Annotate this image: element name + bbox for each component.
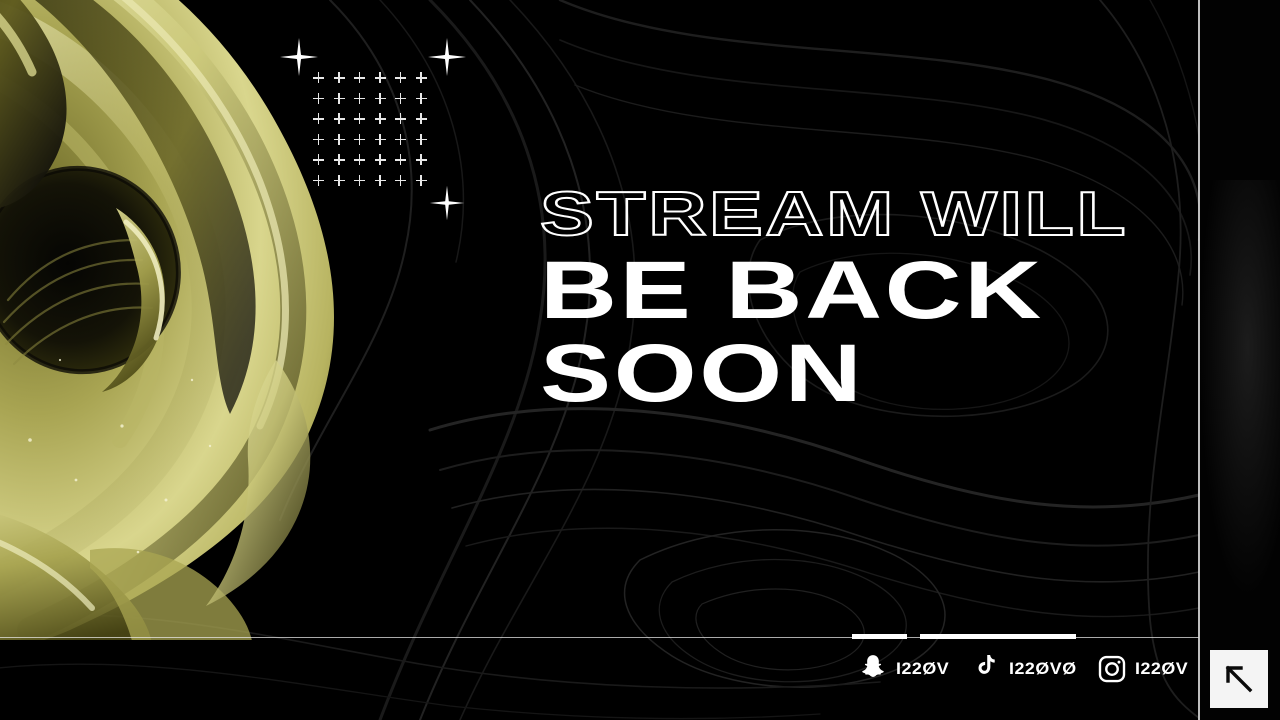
social-link-instagram[interactable]: I22ØV (1095, 652, 1186, 686)
plus-mark-icon (374, 154, 395, 175)
plus-mark-icon (353, 93, 374, 114)
plus-mark-icon (374, 175, 395, 196)
plus-mark-icon (333, 154, 354, 175)
social-handle-instagram: I22ØV (1135, 659, 1188, 679)
plus-mark-icon (333, 175, 354, 196)
accent-tick-right (920, 634, 1076, 639)
social-handle-snapchat: I22ØV (896, 659, 949, 679)
plus-mark-icon (353, 175, 374, 196)
social-link-tiktok[interactable]: I22ØVØ (969, 652, 1073, 686)
plus-mark-icon (415, 93, 436, 114)
plus-mark-icon (333, 72, 354, 93)
plus-mark-icon (415, 72, 436, 93)
plus-mark-icon (374, 113, 395, 134)
plus-mark-icon (353, 154, 374, 175)
headline-block: STREAM WILL BE BACK SOON (540, 186, 993, 412)
social-handle-tiktok: I22ØVØ (1009, 659, 1077, 679)
plus-mark-icon (415, 154, 436, 175)
plus-mark-icon (312, 93, 333, 114)
plus-mark-icon (394, 134, 415, 155)
tiktok-icon (969, 652, 1003, 686)
plus-mark-icon (312, 72, 333, 93)
plus-mark-icon (394, 113, 415, 134)
stream-offline-screen: STREAM WILL BE BACK SOON I22ØV I22ØVØ (0, 0, 1280, 720)
vertical-divider (1198, 0, 1200, 720)
plus-grid-decoration (312, 72, 435, 195)
plus-mark-icon (312, 113, 333, 134)
plus-mark-icon (312, 175, 333, 196)
accent-tick-left (852, 634, 907, 639)
plus-mark-icon (394, 175, 415, 196)
plus-mark-icon (394, 72, 415, 93)
instagram-icon (1095, 652, 1129, 686)
plus-mark-icon (394, 93, 415, 114)
sparkle-icon (428, 184, 466, 222)
plus-mark-icon (333, 134, 354, 155)
sparkle-icon (278, 36, 320, 78)
sparkle-icon (426, 36, 468, 78)
plus-mark-icon (415, 113, 436, 134)
plus-mark-icon (353, 72, 374, 93)
gold-liquid-artwork (0, 0, 440, 640)
plus-mark-icon (374, 72, 395, 93)
plus-mark-icon (374, 93, 395, 114)
social-links-bar: I22ØV I22ØVØ I22ØV (856, 652, 1208, 686)
plus-mark-icon (415, 175, 436, 196)
plus-mark-icon (333, 113, 354, 134)
plus-mark-icon (312, 154, 333, 175)
right-side-panel (1199, 0, 1280, 720)
social-link-snapchat[interactable]: I22ØV (856, 652, 947, 686)
plus-mark-icon (333, 93, 354, 114)
headline-line-1: STREAM WILL (540, 186, 1128, 244)
plus-mark-icon (353, 113, 374, 134)
topographic-background (0, 0, 1280, 720)
plus-mark-icon (312, 134, 333, 155)
plus-mark-icon (415, 134, 436, 155)
plus-mark-icon (374, 134, 395, 155)
headline-line-3: SOON (540, 335, 1128, 412)
arrow-up-left-badge[interactable] (1210, 650, 1268, 708)
arrow-up-left-icon (1222, 662, 1256, 696)
plus-mark-icon (353, 134, 374, 155)
headline-line-2: BE BACK (540, 252, 1128, 329)
snapchat-icon (856, 652, 890, 686)
plus-mark-icon (394, 154, 415, 175)
